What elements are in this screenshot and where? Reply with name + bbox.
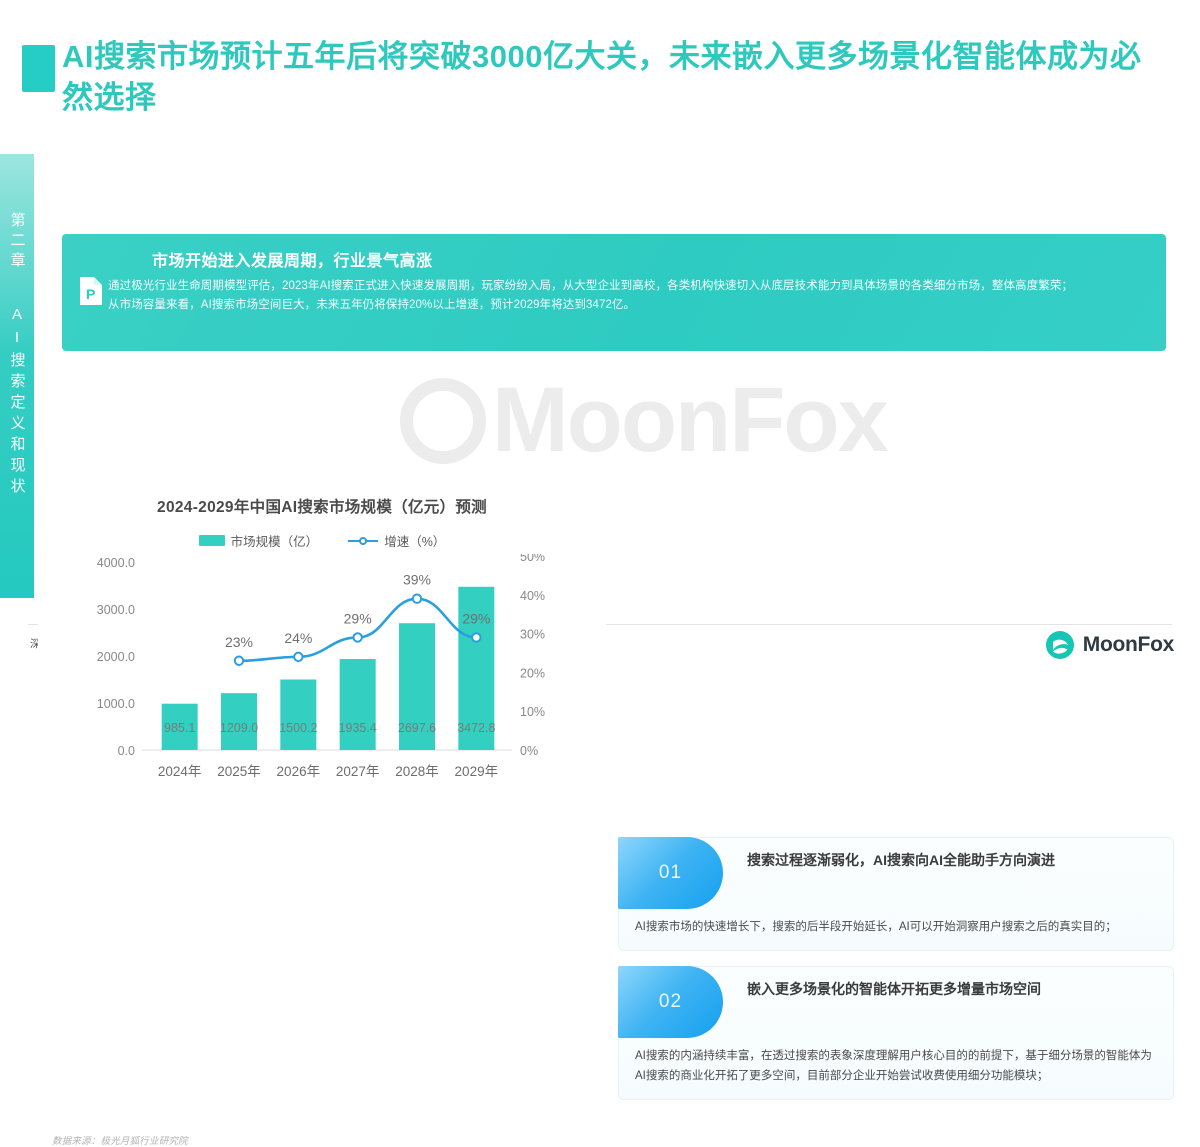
moonfox-logo-icon	[1045, 630, 1075, 660]
card-title: 嵌入更多场景化的智能体开拓更多增量市场空间	[723, 967, 1057, 1000]
card-number-badge: 01	[618, 837, 723, 909]
svg-text:0%: 0%	[520, 744, 538, 758]
watermark-ring-icon	[400, 378, 486, 464]
svg-text:985.1: 985.1	[164, 721, 195, 735]
card-header: 01 搜索过程逐渐弱化，AI搜索向AI全能助手方向演进	[619, 838, 1173, 910]
card-number-badge: 02	[618, 966, 723, 1038]
chapter-rail: 第二章 AI搜索定义和现状	[0, 154, 34, 598]
card-title: 搜索过程逐渐弱化，AI搜索向AI全能助手方向演进	[723, 838, 1071, 871]
summary-banner: P 市场开始进入发展周期，行业景气高涨 通过极光行业生命周期模型评估，2023年…	[62, 234, 1166, 351]
banner-paragraph-1: 通过极光行业生命周期模型评估，2023年AI搜索正式进入快速发展周期，玩家纷纷入…	[108, 277, 1144, 296]
card-header: 02 嵌入更多场景化的智能体开拓更多增量市场空间	[619, 967, 1173, 1039]
title-accent-bar	[22, 45, 55, 92]
svg-text:1000.0: 1000.0	[97, 697, 135, 711]
svg-text:2697.6: 2697.6	[398, 721, 436, 735]
brand-name-label: MoonFox	[1083, 633, 1174, 657]
card-body-text: AI搜索市场的快速增长下，搜索的后半段开始延长，AI可以开始洞察用户搜索之后的真…	[619, 910, 1173, 938]
chart-title: 2024-2029年中国AI搜索市场规模（亿元）预测	[38, 485, 606, 517]
svg-text:2000.0: 2000.0	[97, 650, 135, 664]
svg-text:30%: 30%	[520, 628, 545, 642]
svg-text:4000.0: 4000.0	[97, 556, 135, 570]
svg-text:P: P	[86, 286, 95, 302]
svg-text:3000.0: 3000.0	[97, 603, 135, 617]
svg-text:2025年: 2025年	[217, 764, 261, 779]
svg-text:1500.2: 1500.2	[279, 721, 317, 735]
legend-label-line: 增速（%）	[384, 531, 445, 550]
footer-brand: MoonFox	[1045, 630, 1174, 660]
legend-label-bar: 市场规模（亿）	[231, 531, 319, 550]
svg-text:39%: 39%	[403, 572, 431, 588]
insight-card-02[interactable]: 02 嵌入更多场景化的智能体开拓更多增量市场空间 AI搜索的内涵持续丰富，在透过…	[618, 966, 1174, 1100]
svg-text:10%: 10%	[520, 706, 545, 720]
card-body-text: AI搜索的内涵持续丰富，在透过搜索的表象深度理解用户核心目的的前提下，基于细分场…	[619, 1039, 1173, 1087]
moonfox-watermark: MoonFox	[400, 368, 887, 473]
market-size-chart: 2024-2029年中国AI搜索市场规模（亿元）预测 市场规模（亿） 增速（%）…	[38, 485, 606, 821]
legend-item-line: 增速（%）	[348, 531, 445, 550]
svg-text:40%: 40%	[520, 589, 545, 603]
svg-text:29%: 29%	[344, 611, 372, 627]
legend-item-bar: 市场规模（亿）	[199, 531, 319, 550]
svg-text:24%: 24%	[284, 630, 312, 646]
insight-card-01[interactable]: 01 搜索过程逐渐弱化，AI搜索向AI全能助手方向演进 AI搜索市场的快速增长下…	[618, 837, 1174, 951]
chart-source-note: 数据来源：极光月狐行业研究院	[52, 1133, 1200, 1147]
svg-text:1935.4: 1935.4	[339, 721, 377, 735]
chapter-number-label: 第二章	[10, 212, 25, 272]
line-swatch-icon	[348, 536, 378, 546]
svg-text:2024年: 2024年	[158, 764, 202, 779]
svg-text:3472.8: 3472.8	[457, 721, 495, 735]
watermark-text: MoonFox	[492, 368, 887, 473]
svg-text:0.0: 0.0	[118, 744, 135, 758]
page-title: AI搜索市场预计五年后将突破3000亿大关，未来嵌入更多场景化智能体成为必然选择	[62, 36, 1152, 118]
banner-paragraph-2: 从市场容量来看，AI搜索市场空间巨大，未来五年仍将保持20%以上增速，预计202…	[108, 296, 1144, 315]
chapter-title-label: AI搜索定义和现状	[10, 306, 25, 499]
svg-text:29%: 29%	[462, 611, 490, 627]
chart-plot-area: 0.01000.02000.03000.04000.00%10%20%30%40…	[38, 554, 606, 804]
svg-text:2028年: 2028年	[395, 764, 439, 779]
svg-text:2029年: 2029年	[455, 764, 499, 779]
bar-swatch-icon	[199, 535, 225, 546]
chart-svg: 0.01000.02000.03000.04000.00%10%20%30%40…	[38, 554, 606, 804]
svg-text:23%: 23%	[225, 634, 253, 650]
svg-text:2027年: 2027年	[336, 764, 380, 779]
insight-card-list: 01 搜索过程逐渐弱化，AI搜索向AI全能助手方向演进 AI搜索市场的快速增长下…	[618, 837, 1174, 1099]
svg-text:50%: 50%	[520, 554, 545, 564]
svg-text:2026年: 2026年	[277, 764, 321, 779]
document-p-icon: P	[79, 276, 103, 306]
svg-text:1209.0: 1209.0	[220, 721, 258, 735]
banner-heading: 市场开始进入发展周期，行业景气高涨	[152, 247, 1144, 271]
page-title-block: AI搜索市场预计五年后将突破3000亿大关，未来嵌入更多场景化智能体成为必然选择	[0, 36, 1160, 118]
chart-legend: 市场规模（亿） 增速（%）	[38, 531, 606, 550]
svg-text:20%: 20%	[520, 667, 545, 681]
